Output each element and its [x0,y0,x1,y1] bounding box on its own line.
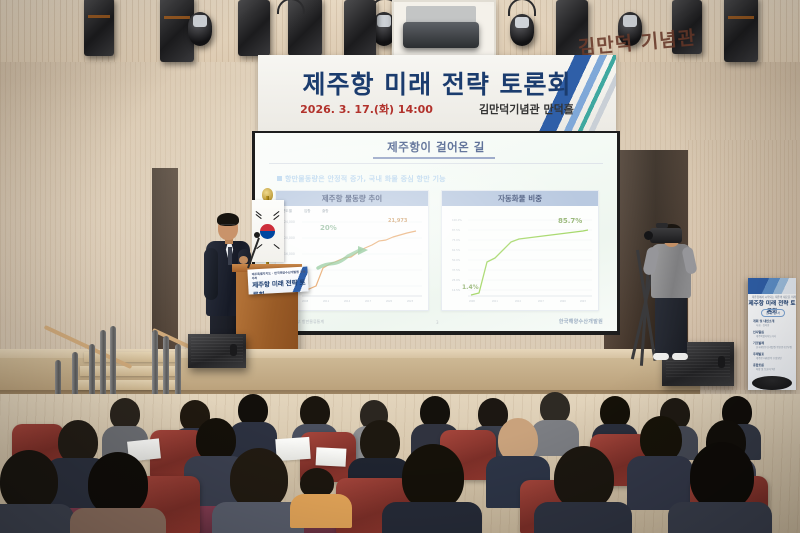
standee-header-graphic [748,278,796,294]
conference-hall-photo: 김만덕 기념관 제주항 미래 전략 토론회 2026. 3. 17.(화) 14… [0,0,800,533]
audience-head [230,448,288,510]
ceiling-speaker [84,0,114,56]
audience-jacket-orange [290,494,352,528]
svg-text:20,000: 20,000 [284,236,295,240]
svg-text:2011: 2011 [492,300,498,303]
svg-text:37.5%: 37.5% [452,268,461,272]
ceiling-speaker [238,0,270,56]
banner-subtitle: 2026. 3. 17.(화) 14:00 김만덕기념관 만덕홀 [258,101,616,117]
speaker-glasses [220,224,236,229]
trigram-bar [273,244,279,249]
audience-shoulders [534,502,632,533]
svg-text:2008: 2008 [302,300,309,303]
standee-base [752,376,792,390]
standee-program-pill: 진 행 순 서 [761,309,785,317]
light-lens [515,17,529,28]
svg-text:12.5%: 12.5% [452,288,461,292]
chart-annotation-end-value: 85.7% [558,217,582,225]
railing-post [163,336,169,402]
ceiling-speaker [344,0,376,62]
speaker-hand [239,256,248,264]
audience-shoulders [0,504,74,533]
event-standee-banner: 제주항에서 시작되는 제주의 새로운 미래 제주항 미래 전략 토론회 진 행 … [748,278,796,390]
svg-text:87.5%: 87.5% [452,228,461,232]
chart-plot-automation: 100.0%87.5%75.0% 62.5%50.0%37.5% 25.0%12… [442,206,598,310]
slide-bullet-text: 항만물동량은 안정적 증가, 국내 화물 중심 항만 기능 [285,175,446,183]
speaker-handle [718,356,725,368]
audience-head [690,442,754,510]
svg-text:2011: 2011 [323,300,330,303]
audience-shoulders [668,502,772,533]
camera-lens-icon [644,231,653,240]
chart-legend-2: 출항 [322,209,329,214]
ceiling-speaker [724,0,758,62]
stage-light [510,14,534,46]
svg-text:25.0%: 25.0% [452,278,461,282]
slide-title: 제주항이 걸어온 길 [255,139,617,155]
event-banner: 제주항 미래 전략 토론회 2026. 3. 17.(화) 14:00 김만덕기… [258,55,616,132]
banner-date: 2026. 3. 17.(화) 14:00 [300,101,433,117]
ceiling-projector [403,22,479,48]
standee-item-sub-3: 제주항 미래전략 수립방안 [756,356,782,360]
chart-card-automation: 자동화물 비중 100.0%87.5%75.0% 62.5%50.0%37.5%… [441,190,599,311]
handout-paper [316,447,347,467]
svg-text:2014: 2014 [344,300,351,303]
slide-divider [269,163,603,164]
standee-item-sub-0: 사회 · 김미영 [756,323,769,327]
svg-text:2023: 2023 [580,300,586,303]
standee-item-sub-2: 한국해양수산개발원 항만연구본부장 [756,345,792,349]
bullet-marker-icon [277,176,282,181]
audience-shoulders [70,508,166,533]
svg-text:2020: 2020 [560,300,566,303]
podium-sign-title: 제주항 미래 전략 토론회 [252,276,309,294]
svg-text:2017: 2017 [365,300,372,303]
svg-text:2017: 2017 [538,300,544,303]
banner-title: 제주항 미래 전략 토론회 [258,65,616,101]
chart-legend-1: 입항 [304,209,311,214]
chart-annotation-start-value: 1.4% [462,284,479,291]
audience-head [0,450,58,512]
camera-mic-icon [656,223,668,228]
light-lens [377,15,391,27]
railing-post [152,330,158,400]
light-lens [193,15,207,27]
korean-flag [252,200,284,262]
light-lens [623,15,637,27]
slide-title-underline [373,157,495,159]
svg-text:24,000: 24,000 [284,220,295,224]
banner-venue: 김만덕기념관 만덕홀 [479,101,574,117]
slide-bullet: 항만물동량은 안정적 증가, 국내 화물 중심 항만 기능 [277,174,446,184]
audience-head [402,444,464,510]
stage-light [188,12,212,46]
svg-text:16,000: 16,000 [284,252,295,256]
chart-plot-volume: 연도별 입항 출항 24,00020,000 16,00012,0008,000 [276,206,428,310]
video-camera [650,228,682,243]
speaker-arm-left [204,248,218,300]
audience-shoulders [382,502,482,533]
speaker-tie [228,247,232,265]
railing-post [110,326,116,400]
slide-page-number: 3 [436,320,439,325]
slide-logo: 한국해양수산개발원 [559,318,603,325]
svg-text:2014: 2014 [515,300,521,303]
speaker-handle [230,344,237,356]
audience-head [88,452,148,516]
chart-title-volume: 제주항 물동량 추이 [276,191,428,206]
videographer-legs [655,295,687,357]
svg-text:2008: 2008 [469,300,475,303]
svg-text:100.0%: 100.0% [452,218,462,222]
chart-annotation-growth: 20% [320,224,337,232]
svg-text:75.0%: 75.0% [452,238,461,242]
microphone-head-icon [254,232,260,238]
chart-annotation-end-value: 21,973 [388,218,407,224]
standee-item-sub-1: 제주특별자치도지사 [756,334,776,338]
videographer-shoe [672,353,688,360]
standee-item-sub-4: 좌장 및 토론자 5인 [756,367,775,371]
stage-monitor-speaker [188,334,246,368]
audience-head [554,446,614,510]
svg-text:62.5%: 62.5% [452,248,461,252]
podium-sign: 제주특별자치도 · 한국해양수산개발원 공동주최 제주항 미래 전략 토론회 [247,266,308,294]
svg-text:2020: 2020 [386,300,393,303]
railing-post [100,330,106,402]
taegeuk-blue [260,231,275,239]
chart-title-automation: 자동화물 비중 [442,191,598,206]
svg-text:2023: 2023 [407,300,414,303]
projection-screen: 제주항이 걸어온 길 항만물동량은 안정적 증가, 국내 화물 중심 항만 기능… [255,133,617,331]
light-yoke [277,0,305,14]
chart-card-volume: 제주항 물동량 추이 연도별 입항 출항 24,00020,000 16,000… [275,190,429,311]
videographer-shoe [653,353,669,360]
svg-text:50.0%: 50.0% [452,258,461,262]
